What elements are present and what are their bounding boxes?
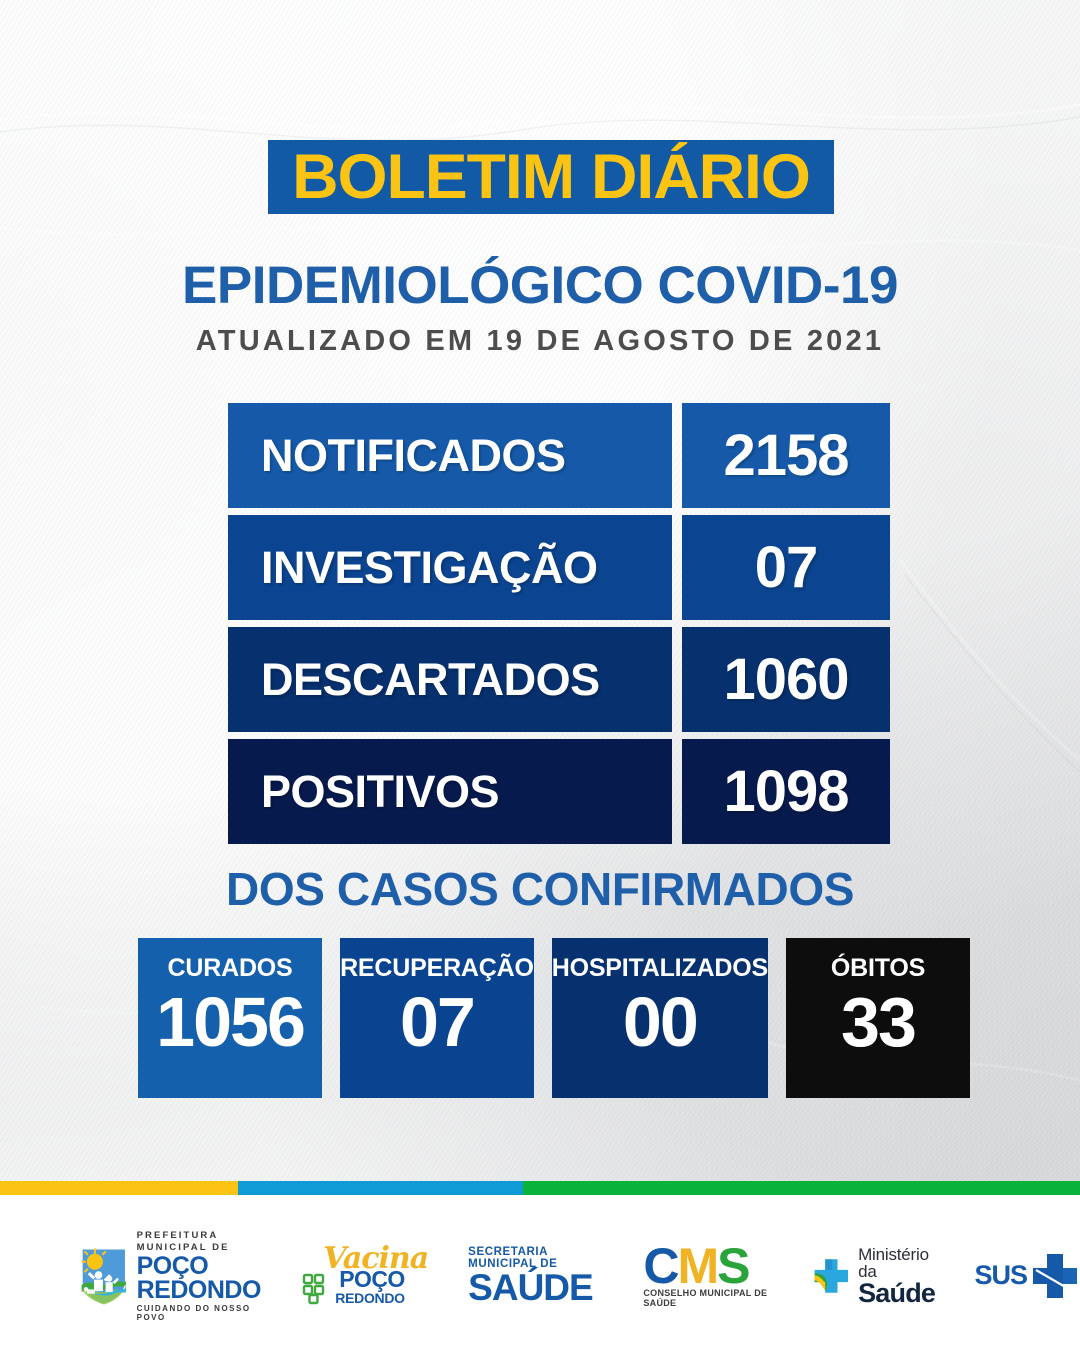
prefeitura-name-line1: POÇO <box>137 1254 268 1278</box>
secretaria-big-text: SAÚDE <box>468 1270 605 1305</box>
confirmed-cases-boxes: CURADOS 1056 RECUPERAÇÃO 07 HOSPITALIZAD… <box>138 938 970 1098</box>
stat-label-cell: NOTIFICADOS <box>228 403 672 508</box>
stat-box-curados: CURADOS 1056 <box>138 938 322 1098</box>
ministerio-big-text: Saúde <box>858 1280 940 1306</box>
cms-letter-s: S <box>717 1238 748 1294</box>
stat-box-label: RECUPERAÇÃO <box>340 954 534 983</box>
covid-stats-table: NOTIFICADOS 2158 INVESTIGAÇÃO 07 DESCART… <box>228 403 890 844</box>
footer-logo-row: PREFEITURA MUNICIPAL DE POÇO REDONDO CUI… <box>0 1228 1080 1323</box>
stat-box-value: 1056 <box>156 987 304 1058</box>
prefeitura-tagline: CUIDANDO DO NOSSO POVO <box>137 1304 268 1322</box>
table-row: INVESTIGAÇÃO 07 <box>228 515 890 620</box>
table-row: POSITIVOS 1098 <box>228 739 890 844</box>
cms-letters: CMS <box>643 1244 770 1288</box>
stat-value-cell: 07 <box>682 515 890 620</box>
color-stripe-divider <box>0 1181 1080 1195</box>
logo-ministerio-da-saude: Ministério da Saúde <box>812 1246 940 1306</box>
table-row: NOTIFICADOS 2158 <box>228 403 890 508</box>
stat-box-hospitalizados: HOSPITALIZADOS 00 <box>552 938 768 1098</box>
logo-secretaria-municipal-saude: SECRETARIA MUNICIPAL DE SAÚDE <box>468 1246 605 1305</box>
poco-redondo-coat-of-arms-icon <box>78 1242 130 1310</box>
cms-letter-c: C <box>643 1238 677 1294</box>
ministerio-top-text: Ministério da <box>858 1246 940 1280</box>
ministerio-cross-icon <box>812 1255 851 1297</box>
stat-box-value: 33 <box>841 987 915 1058</box>
stat-box-label: ÓBITOS <box>831 954 925 983</box>
page-subtitle: EPIDEMIOLÓGICO COVID-19 <box>0 255 1080 316</box>
vacina-name-line1: POÇO <box>339 1269 404 1290</box>
logo-sus: SUS <box>974 1252 1080 1300</box>
stripe-segment-green <box>523 1181 1080 1195</box>
stat-value-cell: 1060 <box>682 627 890 732</box>
sus-word: SUS <box>974 1260 1027 1291</box>
stat-value-cell: 2158 <box>682 403 890 508</box>
stat-label-cell: INVESTIGAÇÃO <box>228 515 672 620</box>
logo-prefeitura-poco-redondo: PREFEITURA MUNICIPAL DE POÇO REDONDO CUI… <box>78 1230 267 1322</box>
hashtag-puzzle-icon <box>301 1271 335 1305</box>
stat-box-recuperacao: RECUPERAÇÃO 07 <box>340 938 534 1098</box>
sus-cross-icon <box>1030 1252 1080 1300</box>
logo-vacina-poco-redondo: Vacina POÇO REDONDO <box>301 1245 428 1306</box>
stat-value-cell: 1098 <box>682 739 890 844</box>
logo-cms-conselho-municipal-saude: CMS CONSELHO MUNICIPAL DE SAÚDE <box>643 1244 770 1308</box>
cms-letter-m: M <box>677 1238 717 1294</box>
stat-box-value: 07 <box>400 987 474 1058</box>
stat-box-label: CURADOS <box>168 954 293 983</box>
stat-label-cell: DESCARTADOS <box>228 627 672 732</box>
cms-subtitle: CONSELHO MUNICIPAL DE SAÚDE <box>643 1288 770 1308</box>
table-row: DESCARTADOS 1060 <box>228 627 890 732</box>
stat-box-label: HOSPITALIZADOS <box>552 954 768 983</box>
prefeitura-name-line2: REDONDO <box>137 1278 268 1302</box>
stripe-segment-blue <box>238 1181 523 1195</box>
stat-box-obitos: ÓBITOS 33 <box>786 938 970 1098</box>
prefeitura-line1: PREFEITURA <box>137 1230 268 1242</box>
vacina-name-line2: REDONDO <box>335 1290 404 1306</box>
stripe-segment-yellow <box>0 1181 238 1195</box>
confirmed-cases-heading: DOS CASOS CONFIRMADOS <box>0 862 1080 916</box>
last-updated-date: ATUALIZADO EM 19 DE AGOSTO DE 2021 <box>0 325 1080 358</box>
stat-box-value: 00 <box>623 987 697 1058</box>
stat-label-cell: POSITIVOS <box>228 739 672 844</box>
page-title: BOLETIM DIÁRIO <box>262 140 839 214</box>
